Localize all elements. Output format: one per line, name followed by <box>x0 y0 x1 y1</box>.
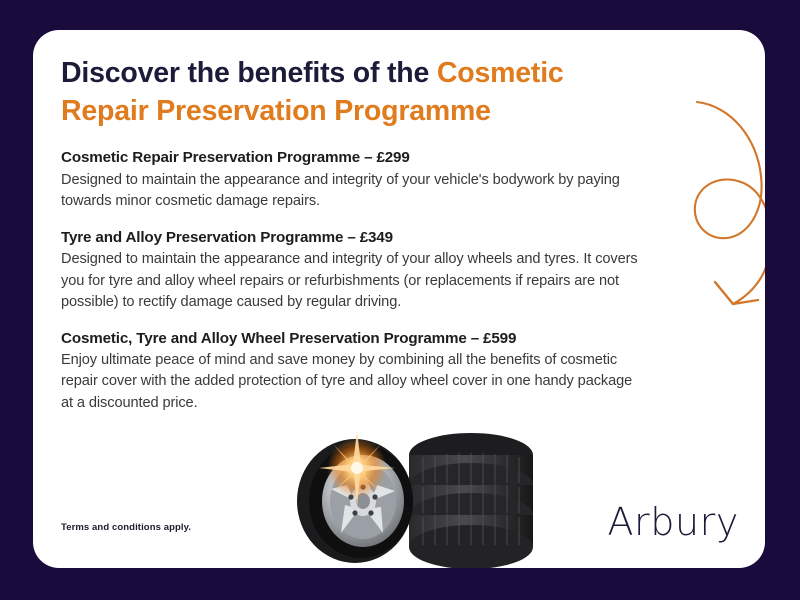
programme-description: Designed to maintain the appearance and … <box>61 170 646 212</box>
list-item: Cosmetic, Tyre and Alloy Wheel Preservat… <box>61 329 646 414</box>
programme-title: Tyre and Alloy Preservation Programme – … <box>61 228 646 249</box>
curved-loop-arrow-icon <box>645 52 765 317</box>
programme-title: Cosmetic, Tyre and Alloy Wheel Preservat… <box>61 329 646 350</box>
programme-list: Cosmetic Repair Preservation Programme –… <box>61 148 646 414</box>
programme-description: Enjoy ultimate peace of mind and save mo… <box>61 350 646 413</box>
tyre-stack-back <box>409 433 533 568</box>
terms-and-conditions: Terms and conditions apply. <box>61 522 191 533</box>
list-item: Cosmetic Repair Preservation Programme –… <box>61 148 646 212</box>
brand-logo: Arbury <box>607 500 739 544</box>
headline-lead: Discover the benefits of the <box>61 57 437 89</box>
content-card: Discover the benefits of the Cosmetic Re… <box>33 30 765 568</box>
programme-description: Designed to maintain the appearance and … <box>61 249 646 312</box>
headline-accent-part2: Repair Preservation Programme <box>61 95 491 127</box>
poster-canvas: Discover the benefits of the Cosmetic Re… <box>0 0 800 600</box>
tyre-stack-alloy-wheel-image <box>283 423 543 568</box>
list-item: Tyre and Alloy Preservation Programme – … <box>61 228 646 313</box>
page-title: Discover the benefits of the Cosmetic Re… <box>61 55 661 131</box>
headline-accent-part1: Cosmetic <box>437 57 564 89</box>
programme-title: Cosmetic Repair Preservation Programme –… <box>61 148 646 169</box>
